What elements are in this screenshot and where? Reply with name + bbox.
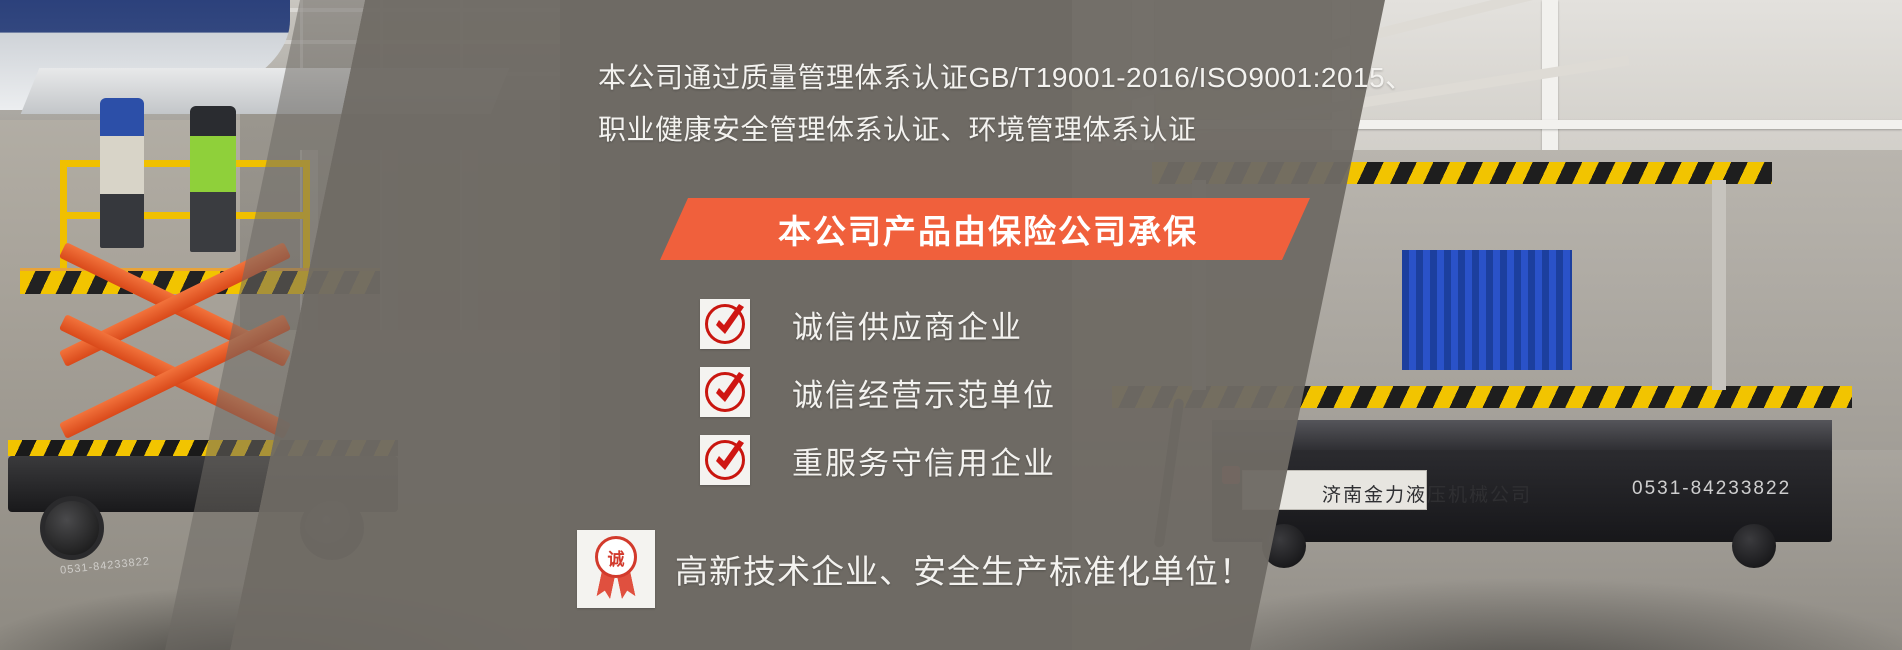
check-icon-tile <box>700 435 750 485</box>
list-item: 诚信供应商企业 <box>700 290 1056 358</box>
check-circle-icon <box>705 440 745 480</box>
certification-list: 诚信供应商企业 诚信经营示范单位 <box>700 290 1056 494</box>
check-icon-tile <box>700 299 750 349</box>
headline-line-1: 本公司通过质量管理体系认证GB/T19001-2016/ISO9001:2015… <box>598 62 1414 93</box>
headline-line-2: 职业健康安全管理体系认证、环境管理体系认证 <box>598 104 1418 156</box>
check-icon-tile <box>700 367 750 417</box>
award-label: 高新技术企业、安全生产标准化单位！ <box>675 545 1253 593</box>
ribbon-label: 本公司产品由保险公司承保 <box>660 198 1310 260</box>
promotional-banner: 0531-84233822 济南金力液压机械公司 0531-84233822 <box>0 0 1902 650</box>
award-row: 诚 高新技术企业、安全生产标准化单位！ <box>577 530 1253 608</box>
list-item-label: 诚信供应商企业 <box>792 302 1023 347</box>
list-item-label: 诚信经营示范单位 <box>792 370 1056 415</box>
list-item-label: 重服务守信用企业 <box>792 438 1056 483</box>
insurance-ribbon: 本公司产品由保险公司承保 <box>660 198 1310 260</box>
list-item: 重服务守信用企业 <box>700 426 1056 494</box>
headline-block: 本公司通过质量管理体系认证GB/T19001-2016/ISO9001:2015… <box>598 52 1418 156</box>
check-circle-icon <box>705 304 745 344</box>
award-rosette-icon: 诚 <box>585 536 647 602</box>
check-circle-icon <box>705 372 745 412</box>
banner-content: 本公司通过质量管理体系认证GB/T19001-2016/ISO9001:2015… <box>0 0 1902 650</box>
rosette-medal: 诚 <box>595 536 637 578</box>
award-icon-tile: 诚 <box>577 530 655 608</box>
list-item: 诚信经营示范单位 <box>700 358 1056 426</box>
